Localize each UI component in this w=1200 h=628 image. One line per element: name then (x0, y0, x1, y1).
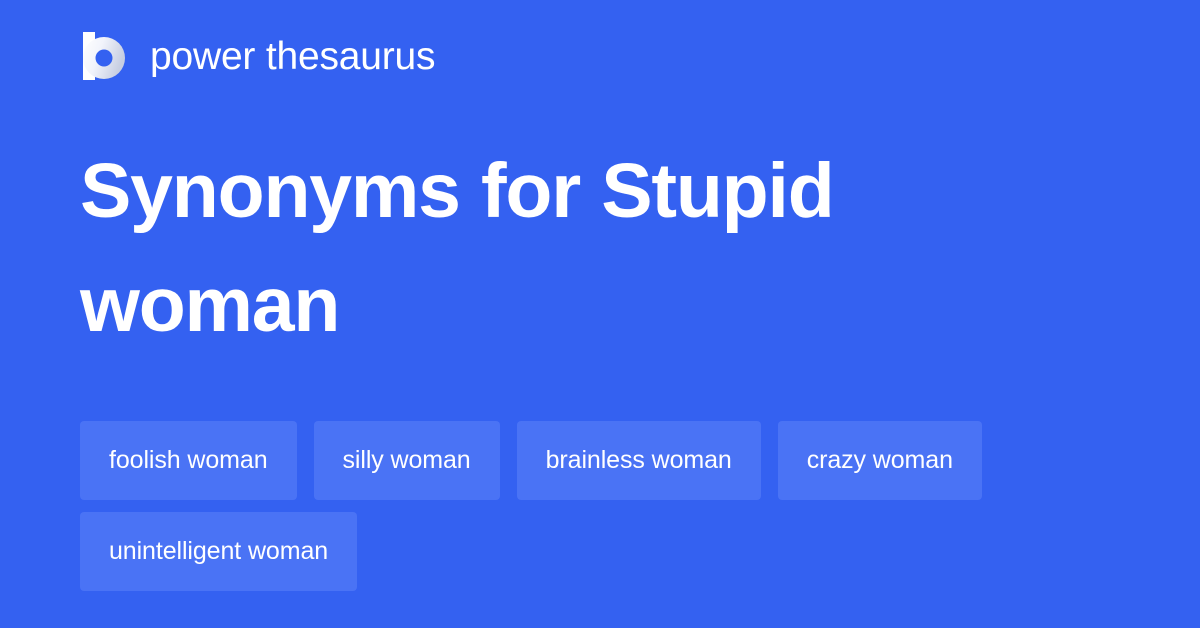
synonym-chip[interactable]: crazy woman (778, 421, 982, 500)
synonym-chip[interactable]: silly woman (314, 421, 500, 500)
synonym-chip[interactable]: brainless woman (517, 421, 761, 500)
synonym-chip-list: foolish woman silly woman brainless woma… (80, 421, 1080, 591)
brand-name: power thesaurus (150, 37, 435, 76)
synonym-chip[interactable]: foolish woman (80, 421, 297, 500)
power-thesaurus-logo-icon (80, 32, 126, 80)
page-title: Synonyms for Stupid woman (80, 134, 980, 362)
page-root: power thesaurus Synonyms for Stupid woma… (0, 0, 1200, 628)
brand-lockup[interactable]: power thesaurus (80, 30, 435, 82)
synonym-chip[interactable]: unintelligent woman (80, 512, 357, 591)
